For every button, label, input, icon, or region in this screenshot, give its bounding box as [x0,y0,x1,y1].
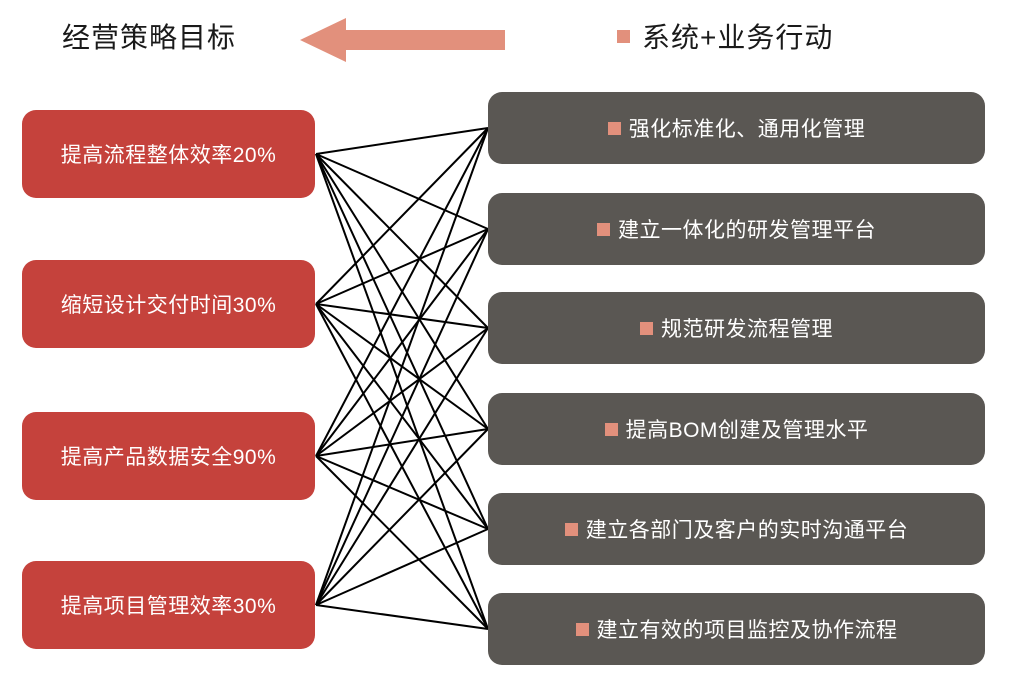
action-box-label: 提高BOM创建及管理水平 [626,414,869,444]
action-box-3[interactable]: 提高BOM创建及管理水平 [488,393,985,465]
connector-line [316,128,488,605]
diagram-canvas: 经营策略目标 系统+业务行动 提高流程整体效率20%缩短设计交付时间30%提高产… [0,0,1011,676]
connector-line [316,229,488,456]
action-box-label: 规范研发流程管理 [661,313,833,343]
connector-line [316,456,488,629]
square-bullet-icon [565,523,578,536]
action-box-4[interactable]: 建立各部门及客户的实时沟通平台 [488,493,985,565]
square-bullet-icon [640,322,653,335]
connector-line [316,605,488,629]
action-box-label: 建立一体化的研发管理平台 [618,214,876,244]
square-bullet-icon [608,122,621,135]
goal-box-0[interactable]: 提高流程整体效率20% [22,110,315,198]
connector-line [316,429,488,456]
action-box-2[interactable]: 规范研发流程管理 [488,292,985,364]
connector-line [316,128,488,154]
goal-box-2[interactable]: 提高产品数据安全90% [22,412,315,500]
action-box-label: 强化标准化、通用化管理 [629,113,866,143]
goal-box-label: 提高流程整体效率20% [61,139,277,169]
connector-line [316,304,488,328]
goal-box-label: 提高项目管理效率30% [61,590,277,620]
square-bullet-icon [576,623,589,636]
goal-box-1[interactable]: 缩短设计交付时间30% [22,260,315,348]
goal-box-label: 缩短设计交付时间30% [61,289,277,319]
connector-line [316,229,488,605]
goal-box-3[interactable]: 提高项目管理效率30% [22,561,315,649]
action-box-label: 建立各部门及客户的实时沟通平台 [586,514,909,544]
square-bullet-icon [605,423,618,436]
action-box-0[interactable]: 强化标准化、通用化管理 [488,92,985,164]
connector-line [316,328,488,456]
goal-box-label: 提高产品数据安全90% [61,441,277,471]
action-box-1[interactable]: 建立一体化的研发管理平台 [488,193,985,265]
action-box-label: 建立有效的项目监控及协作流程 [597,614,898,644]
action-box-5[interactable]: 建立有效的项目监控及协作流程 [488,593,985,665]
square-bullet-icon [597,223,610,236]
connector-line [316,529,488,605]
connector-line [316,128,488,304]
connector-line [316,154,488,229]
